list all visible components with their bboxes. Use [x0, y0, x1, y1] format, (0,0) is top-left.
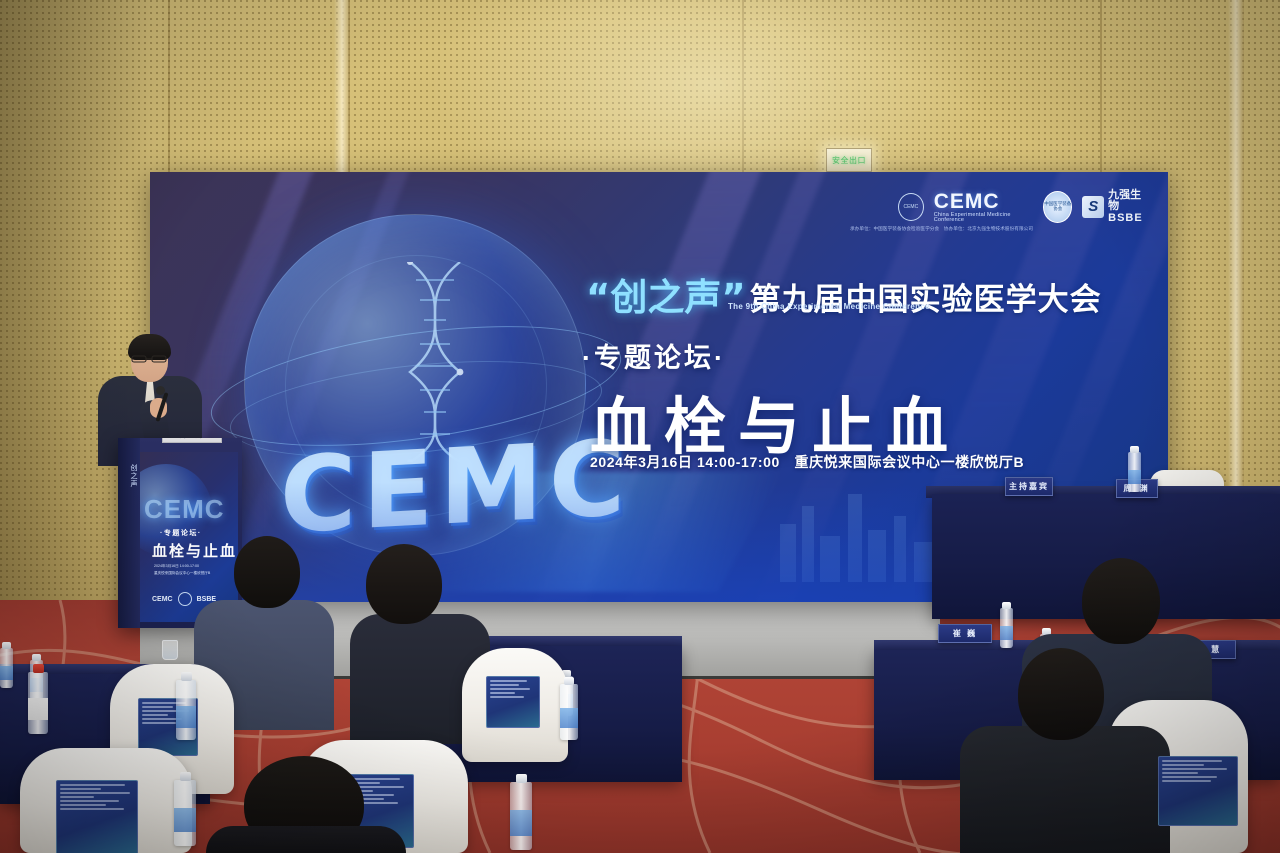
bottle-cap-icon — [32, 654, 41, 661]
glasses-icon — [131, 355, 168, 363]
water-bottle — [1128, 452, 1141, 492]
podium-side-text: 创之声 — [120, 464, 138, 488]
podium-main-topic: 血栓与止血 — [152, 540, 237, 561]
cemc-seal-icon: CEMC — [898, 193, 924, 221]
chair-program-card — [56, 780, 138, 853]
bsbe-mark-icon: S — [1082, 196, 1104, 218]
bottle-label — [28, 698, 48, 720]
banner-datetime-venue: 2024年3月16日 14:00-17:00 重庆悦来国际会议中心一楼欣悦厅B — [590, 452, 1024, 472]
podium-side-panel: 创之声 — [118, 438, 140, 628]
cemc-seal-label: CEMC — [903, 205, 918, 210]
podium-graphic-panel: CEMC ·专题论坛· 血栓与止血 2024年3月16日 14:00-17:00… — [138, 452, 238, 622]
bottle-cap-icon — [180, 772, 191, 781]
association-seal-label: 中国医学装备协会 — [1044, 202, 1071, 211]
cemc-logo-small: China Experimental Medicine Conference — [934, 213, 1033, 224]
podium-forum-label: ·专题论坛· — [160, 528, 202, 538]
exit-sign-label: 安全出口 — [832, 155, 866, 166]
water-bottle — [28, 672, 48, 734]
placard-moderator: 主持嘉宾 — [1005, 477, 1053, 496]
bottle-cap-icon — [516, 774, 527, 783]
audience-person-head — [1082, 558, 1160, 644]
bottle-cap-icon — [33, 664, 44, 673]
bsbe-logo-en: BSBE — [1108, 213, 1148, 225]
water-bottle — [176, 680, 196, 740]
banner-forum-label: ·专题论坛· — [582, 336, 726, 375]
banner-title-rest: 第九届中国实验医学大会 — [750, 274, 1102, 319]
podium-date-line2: 重庆悦来国际会议中心一楼欣悦厅B — [154, 571, 210, 576]
cemc-logo: CEMC China Experimental Medicine Confere… — [934, 191, 1033, 224]
bottle-cap-icon — [2, 642, 11, 649]
podium-logo-cemc: CEMC — [152, 596, 173, 603]
bsbe-logo: S 九强生物 BSBE — [1082, 190, 1148, 225]
bottle-cap-icon — [564, 677, 574, 685]
podium-date-line1: 2024年3月16日 14:00-17:00 — [154, 564, 199, 569]
bsbe-logo-cn: 九强生物 — [1108, 190, 1148, 213]
water-bottle — [510, 782, 532, 850]
podium-wordmark: CEMC — [144, 494, 225, 525]
water-bottle — [1000, 608, 1013, 648]
cemc-logo-big: CEMC — [934, 191, 1033, 212]
association-seal-icon: 中国医学装备协会 — [1043, 191, 1072, 223]
banner-title-row: “创之声” 第九届中国实验医学大会 — [586, 267, 1102, 321]
bottle-label — [560, 708, 578, 728]
bottle-cap-icon — [1130, 446, 1139, 453]
bottle-cap-icon — [1002, 602, 1011, 609]
audience-person-head — [366, 544, 442, 624]
bottle-label — [1128, 470, 1141, 484]
bottle-cap-icon — [181, 672, 192, 681]
bottle-label — [0, 666, 13, 680]
bottle-label — [1000, 626, 1013, 640]
water-bottle — [174, 780, 196, 846]
banner-logo-row: CEMC CEMC China Experimental Medicine Co… — [898, 186, 1148, 228]
microphone-head-icon — [156, 386, 165, 395]
banner-organizer-line: 承办单位：中国医学装备协会检验医学分会 协办单位：北京九强生物技术股份有限公司 — [850, 226, 1150, 232]
bottle-label — [510, 810, 532, 836]
bottle-label — [174, 808, 196, 832]
exit-sign: 安全出口 — [826, 148, 872, 172]
placard-speaker-name: 周 渊 — [162, 438, 222, 443]
bottle-label — [176, 706, 196, 728]
water-bottle — [0, 648, 13, 688]
drinking-glass — [162, 640, 178, 660]
chair-program-card — [486, 676, 540, 728]
banner-title-quote: “创之声” — [586, 267, 746, 321]
audience-person-body — [206, 826, 406, 853]
conference-photo-scene: 安全出口 — [0, 0, 1280, 853]
audience-person-head — [234, 536, 300, 608]
water-bottle — [560, 684, 578, 740]
chair-program-card — [1158, 756, 1238, 826]
banner-title-en: The 9th China Experimental Medicine Conf… — [728, 302, 930, 311]
audience-person-body — [960, 726, 1170, 853]
podium-logo-row: CEMC BSBE — [152, 592, 216, 606]
podium-seal-icon — [178, 592, 192, 606]
placard-cui-wei: 崔 巍 — [938, 624, 992, 643]
audience-person-head — [1018, 648, 1104, 740]
